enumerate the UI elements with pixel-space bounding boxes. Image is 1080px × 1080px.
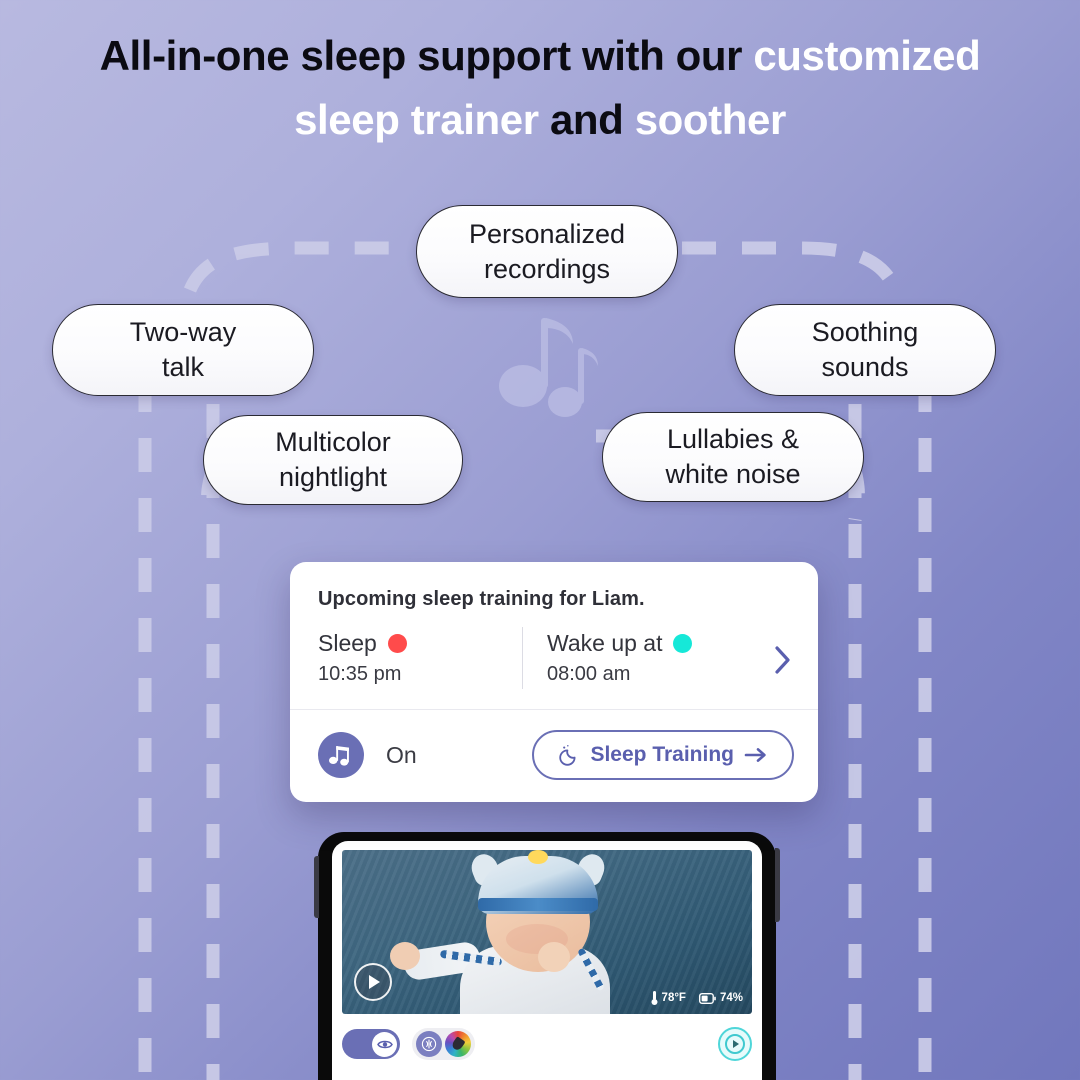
sound-wave-glyph xyxy=(421,1036,437,1052)
sleep-training-button-label: Sleep Training xyxy=(590,743,734,767)
wake-label: Wake up at xyxy=(547,630,662,657)
play-button[interactable] xyxy=(354,963,392,1001)
music-note-decoration xyxy=(497,312,605,428)
battery-value: 74% xyxy=(720,992,743,1004)
feature-pill-personalized-recordings[interactable]: Personalized recordings xyxy=(416,205,678,298)
music-note-badge[interactable] xyxy=(318,732,364,778)
hat-pom xyxy=(528,850,548,864)
phone-screen: 78°F 74% xyxy=(332,841,762,1080)
feature-pill-soothing-sounds[interactable]: Soothing sounds xyxy=(734,304,996,396)
mode-selector[interactable] xyxy=(412,1028,475,1060)
feature-label-line2: sounds xyxy=(812,350,919,385)
sound-wave-icon[interactable] xyxy=(416,1031,442,1057)
phone-side-button-right xyxy=(775,848,780,922)
record-play-glyph xyxy=(733,1040,739,1048)
feature-label-line2: white noise xyxy=(665,457,800,492)
phone-side-button-left xyxy=(314,856,319,918)
arrow-right-icon xyxy=(744,747,768,763)
feature-label-line2: recordings xyxy=(469,252,625,287)
temperature-value: 78°F xyxy=(662,992,686,1004)
headline-part-1: All-in-one sleep support with our xyxy=(100,32,754,79)
feature-pill-lullabies-white-noise[interactable]: Lullabies & white noise xyxy=(602,412,864,502)
page-title: All-in-one sleep support with our custom… xyxy=(0,34,1080,143)
color-wheel-icon[interactable] xyxy=(445,1031,471,1057)
headline-part-3: sleep trainer xyxy=(294,96,550,143)
wake-status-dot xyxy=(673,634,692,653)
toggle-knob xyxy=(372,1032,397,1057)
thermometer-icon xyxy=(651,991,658,1005)
feature-label-line2: talk xyxy=(130,350,237,385)
moon-icon xyxy=(558,744,580,766)
feature-pill-multicolor-nightlight[interactable]: Multicolor nightlight xyxy=(203,415,463,505)
record-icon xyxy=(725,1034,745,1054)
record-playback-button[interactable] xyxy=(718,1027,752,1061)
hat-band xyxy=(478,898,598,911)
eye-icon xyxy=(377,1039,393,1050)
feature-label-line2: nightlight xyxy=(275,460,391,495)
sleep-time-value: 10:35 pm xyxy=(318,663,518,686)
card-title: Upcoming sleep training for Liam. xyxy=(290,562,818,611)
card-footer-row: On Sleep Training xyxy=(290,710,818,802)
feature-label-line1: Soothing xyxy=(812,315,919,350)
night-vision-toggle[interactable] xyxy=(342,1029,400,1059)
headline-part-5: soother xyxy=(635,96,786,143)
sleep-status-dot xyxy=(388,634,407,653)
phone-controls-row xyxy=(342,1023,752,1065)
music-note-icon xyxy=(328,743,354,767)
play-icon xyxy=(369,975,380,989)
headline-part-2: customized xyxy=(753,32,980,79)
battery-readout: 74% xyxy=(699,992,743,1004)
vertical-divider xyxy=(522,627,523,689)
baby-fist xyxy=(538,942,570,972)
phone-mockup: 78°F 74% xyxy=(318,832,776,1080)
sleep-training-button[interactable]: Sleep Training xyxy=(532,730,794,780)
sleep-training-card[interactable]: Upcoming sleep training for Liam. Sleep … xyxy=(290,562,818,802)
sleep-label: Sleep xyxy=(318,630,377,657)
feature-label-line1: Multicolor xyxy=(275,425,391,460)
baby-hand xyxy=(390,942,420,970)
sleep-time-block: Sleep 10:35 pm xyxy=(318,630,518,686)
chevron-right-icon[interactable] xyxy=(774,645,792,675)
feature-label-line1: Two-way xyxy=(130,315,237,350)
feature-pill-two-way-talk[interactable]: Two-way talk xyxy=(52,304,314,396)
feature-label-line1: Lullabies & xyxy=(665,422,800,457)
baby-video-feed[interactable]: 78°F 74% xyxy=(342,850,752,1014)
battery-icon xyxy=(699,993,716,1004)
temperature-readout: 78°F xyxy=(651,991,686,1005)
sound-status-label: On xyxy=(386,742,417,769)
wake-time-block: Wake up at 08:00 am xyxy=(547,630,747,686)
headline-part-4: and xyxy=(550,96,635,143)
video-status-overlay: 78°F 74% xyxy=(651,991,743,1005)
wake-time-value: 08:00 am xyxy=(547,663,747,686)
color-picker-glyph xyxy=(450,1036,465,1052)
feature-label-line1: Personalized xyxy=(469,217,625,252)
card-schedule-row[interactable]: Sleep 10:35 pm Wake up at 08:00 am xyxy=(290,611,818,709)
